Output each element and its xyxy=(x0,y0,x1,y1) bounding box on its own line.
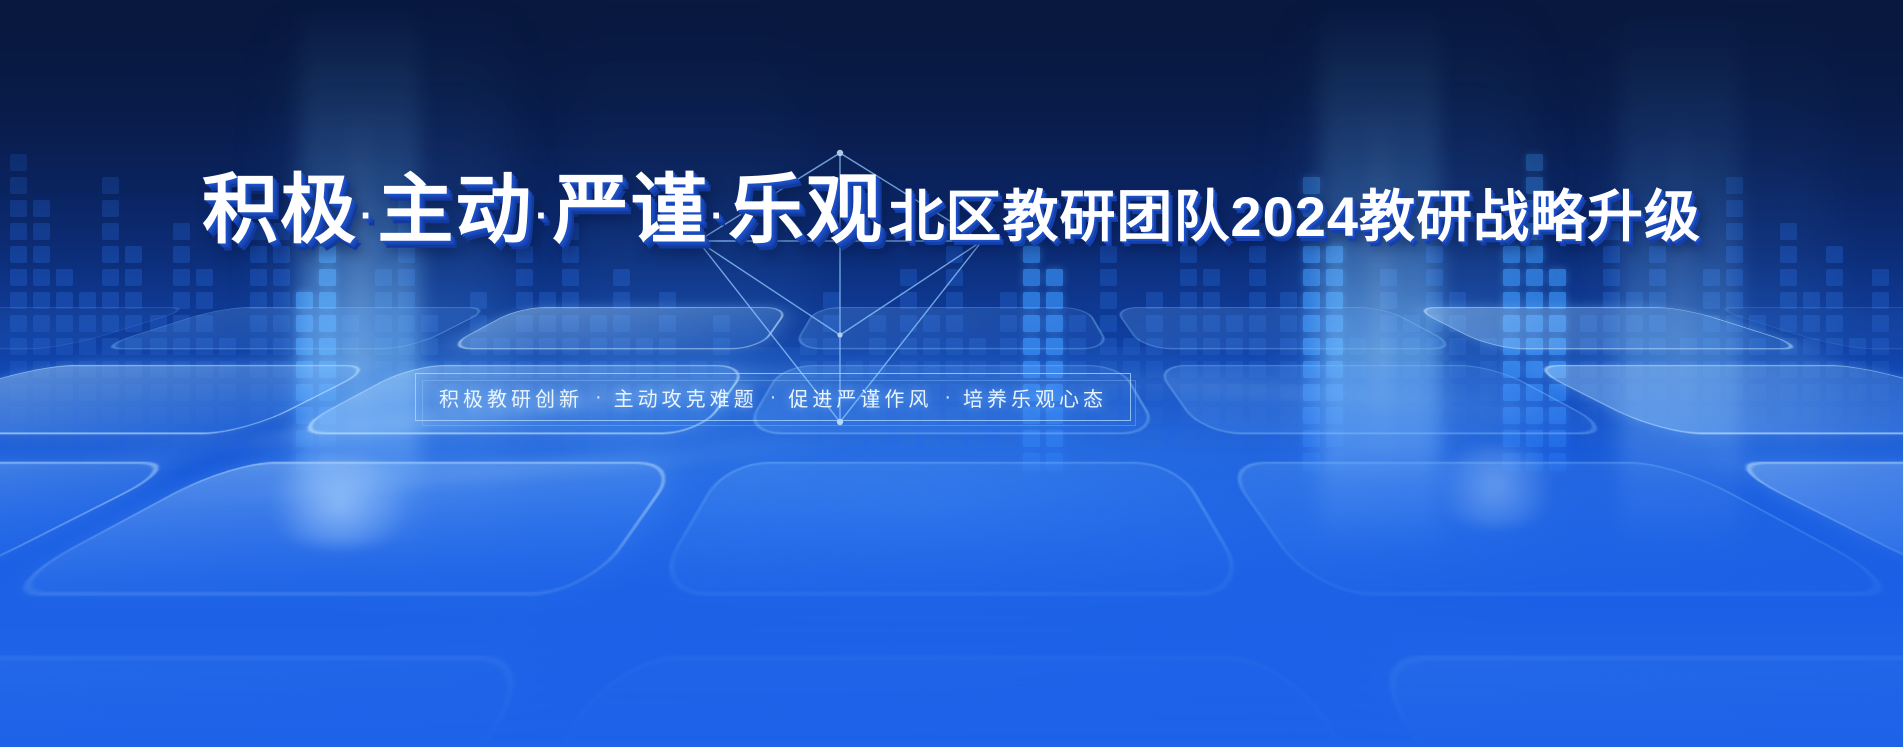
title-separator-dot: · xyxy=(358,194,377,238)
title-separator-dot: · xyxy=(709,194,728,238)
skyline-pixel xyxy=(102,269,119,286)
skyline-pixel xyxy=(1249,269,1266,286)
skyline-pixel xyxy=(1100,269,1117,286)
skyline-pixel xyxy=(10,269,27,286)
tagline-separator: · xyxy=(758,386,789,409)
skyline-pixel xyxy=(173,269,190,286)
title-word: 主动 xyxy=(377,168,533,253)
skyline-pixel xyxy=(1872,269,1889,286)
skyline-pixel xyxy=(250,269,267,286)
page-title: 积极·主动·严谨·乐观 xyxy=(202,168,884,259)
skyline-pixel xyxy=(1203,269,1220,286)
page-subtitle: 北区教研团队2024教研战略升级 xyxy=(888,185,1701,249)
floor-tile xyxy=(1113,307,1463,349)
tagline-frame-wrap: 积极教研创新·主动攻克难题·促进严谨作风·培养乐观心态 xyxy=(415,373,1131,421)
tagline-item: 主动攻克难题 xyxy=(614,383,758,412)
skyline-pixel xyxy=(196,269,213,286)
title-word: 严谨 xyxy=(553,168,709,253)
skyline-pixel xyxy=(56,269,73,286)
title-word: 积极 xyxy=(202,168,358,253)
floor-glow xyxy=(250,457,430,547)
tagline-item: 积极教研创新 xyxy=(439,383,583,412)
skyline-pixel xyxy=(516,269,533,286)
skyline-pixel xyxy=(125,269,142,286)
tagline: 积极教研创新·主动攻克难题·促进严谨作风·培养乐观心态 xyxy=(415,373,1131,421)
skyline-pixel xyxy=(1549,269,1566,286)
tagline-item: 培养乐观心态 xyxy=(963,383,1107,412)
skyline-pixel xyxy=(1180,269,1197,286)
floor-glow xyxy=(1420,447,1570,527)
title-word: 乐观 xyxy=(728,168,884,253)
skyline-pixel xyxy=(1023,269,1040,286)
banner-canvas: 积极·主动·严谨·乐观 北区教研团队2024教研战略升级 积极教研创新·主动攻克… xyxy=(0,0,1903,747)
skyline-pixel xyxy=(33,269,50,286)
headline-block: 积极·主动·严谨·乐观 北区教研团队2024教研战略升级 xyxy=(0,168,1903,259)
tagline-separator: · xyxy=(583,386,614,409)
tagline-item: 促进严谨作风 xyxy=(788,383,932,412)
title-separator-dot: · xyxy=(533,194,552,238)
tagline-separator: · xyxy=(932,386,963,409)
skyline-pixel xyxy=(1046,269,1063,286)
